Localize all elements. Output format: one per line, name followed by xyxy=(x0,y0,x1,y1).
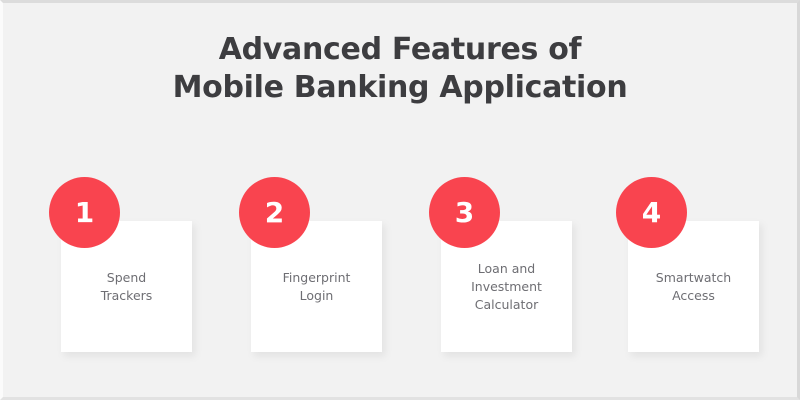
feature-label-3: Loan and Investment Calculator xyxy=(465,260,548,314)
feature-label-2: Fingerprint Login xyxy=(277,269,357,305)
step-badge-4: 4 xyxy=(616,177,687,248)
step-badge-2: 2 xyxy=(239,177,310,248)
feature-card-4[interactable]: 4 Smartwatch Access xyxy=(613,175,759,357)
feature-card-1[interactable]: 1 Spend Trackers xyxy=(46,175,192,357)
feature-label-4: Smartwatch Access xyxy=(650,269,737,305)
page-title: Advanced Features of Mobile Banking Appl… xyxy=(3,31,797,107)
feature-card-3[interactable]: 3 Loan and Investment Calculator xyxy=(426,175,572,357)
step-number-1: 1 xyxy=(75,199,94,227)
step-badge-3: 3 xyxy=(429,177,500,248)
step-badge-1: 1 xyxy=(49,177,120,248)
step-number-4: 4 xyxy=(642,199,661,227)
page-title-line-2: Mobile Banking Application xyxy=(3,69,797,107)
feature-card-2[interactable]: 2 Fingerprint Login xyxy=(236,175,382,357)
step-number-3: 3 xyxy=(455,199,474,227)
feature-card-list: 1 Spend Trackers 2 Fingerprint Login 3 L… xyxy=(46,175,760,357)
feature-label-1: Spend Trackers xyxy=(95,269,159,305)
page-title-line-1: Advanced Features of xyxy=(3,31,797,69)
step-number-2: 2 xyxy=(265,199,284,227)
infographic-canvas: Advanced Features of Mobile Banking Appl… xyxy=(0,0,800,400)
